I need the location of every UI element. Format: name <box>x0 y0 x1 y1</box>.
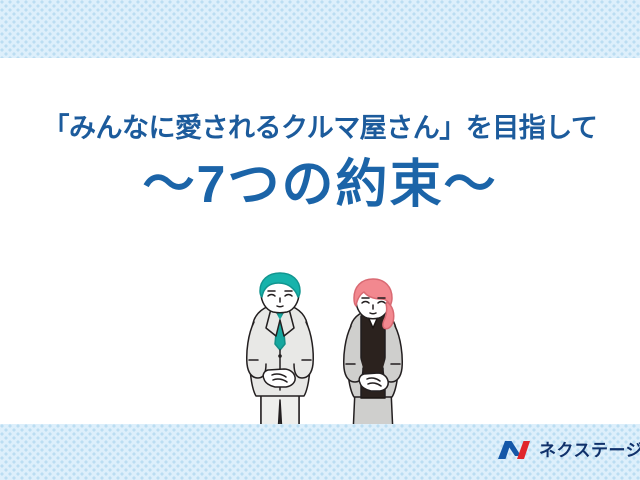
nextage-logo: ネクステージ <box>497 437 640 463</box>
headline-secondary: 〜7つの約束〜 <box>0 156 640 216</box>
logo-wordmark: ネクステージ <box>539 442 640 459</box>
top-dot-band <box>0 0 640 58</box>
staff-illustration <box>228 272 428 434</box>
female-staff-figure <box>344 279 402 434</box>
nextage-n-mark-icon <box>497 438 531 462</box>
headline-primary: 「みんなに愛されるクルマ屋さん」を目指して <box>0 112 640 146</box>
heading-block: 「みんなに愛されるクルマ屋さん」を目指して 〜7つの約束〜 <box>0 112 640 216</box>
male-staff-figure <box>247 273 313 434</box>
slide-canvas: 「みんなに愛されるクルマ屋さん」を目指して 〜7つの約束〜 <box>0 0 640 480</box>
